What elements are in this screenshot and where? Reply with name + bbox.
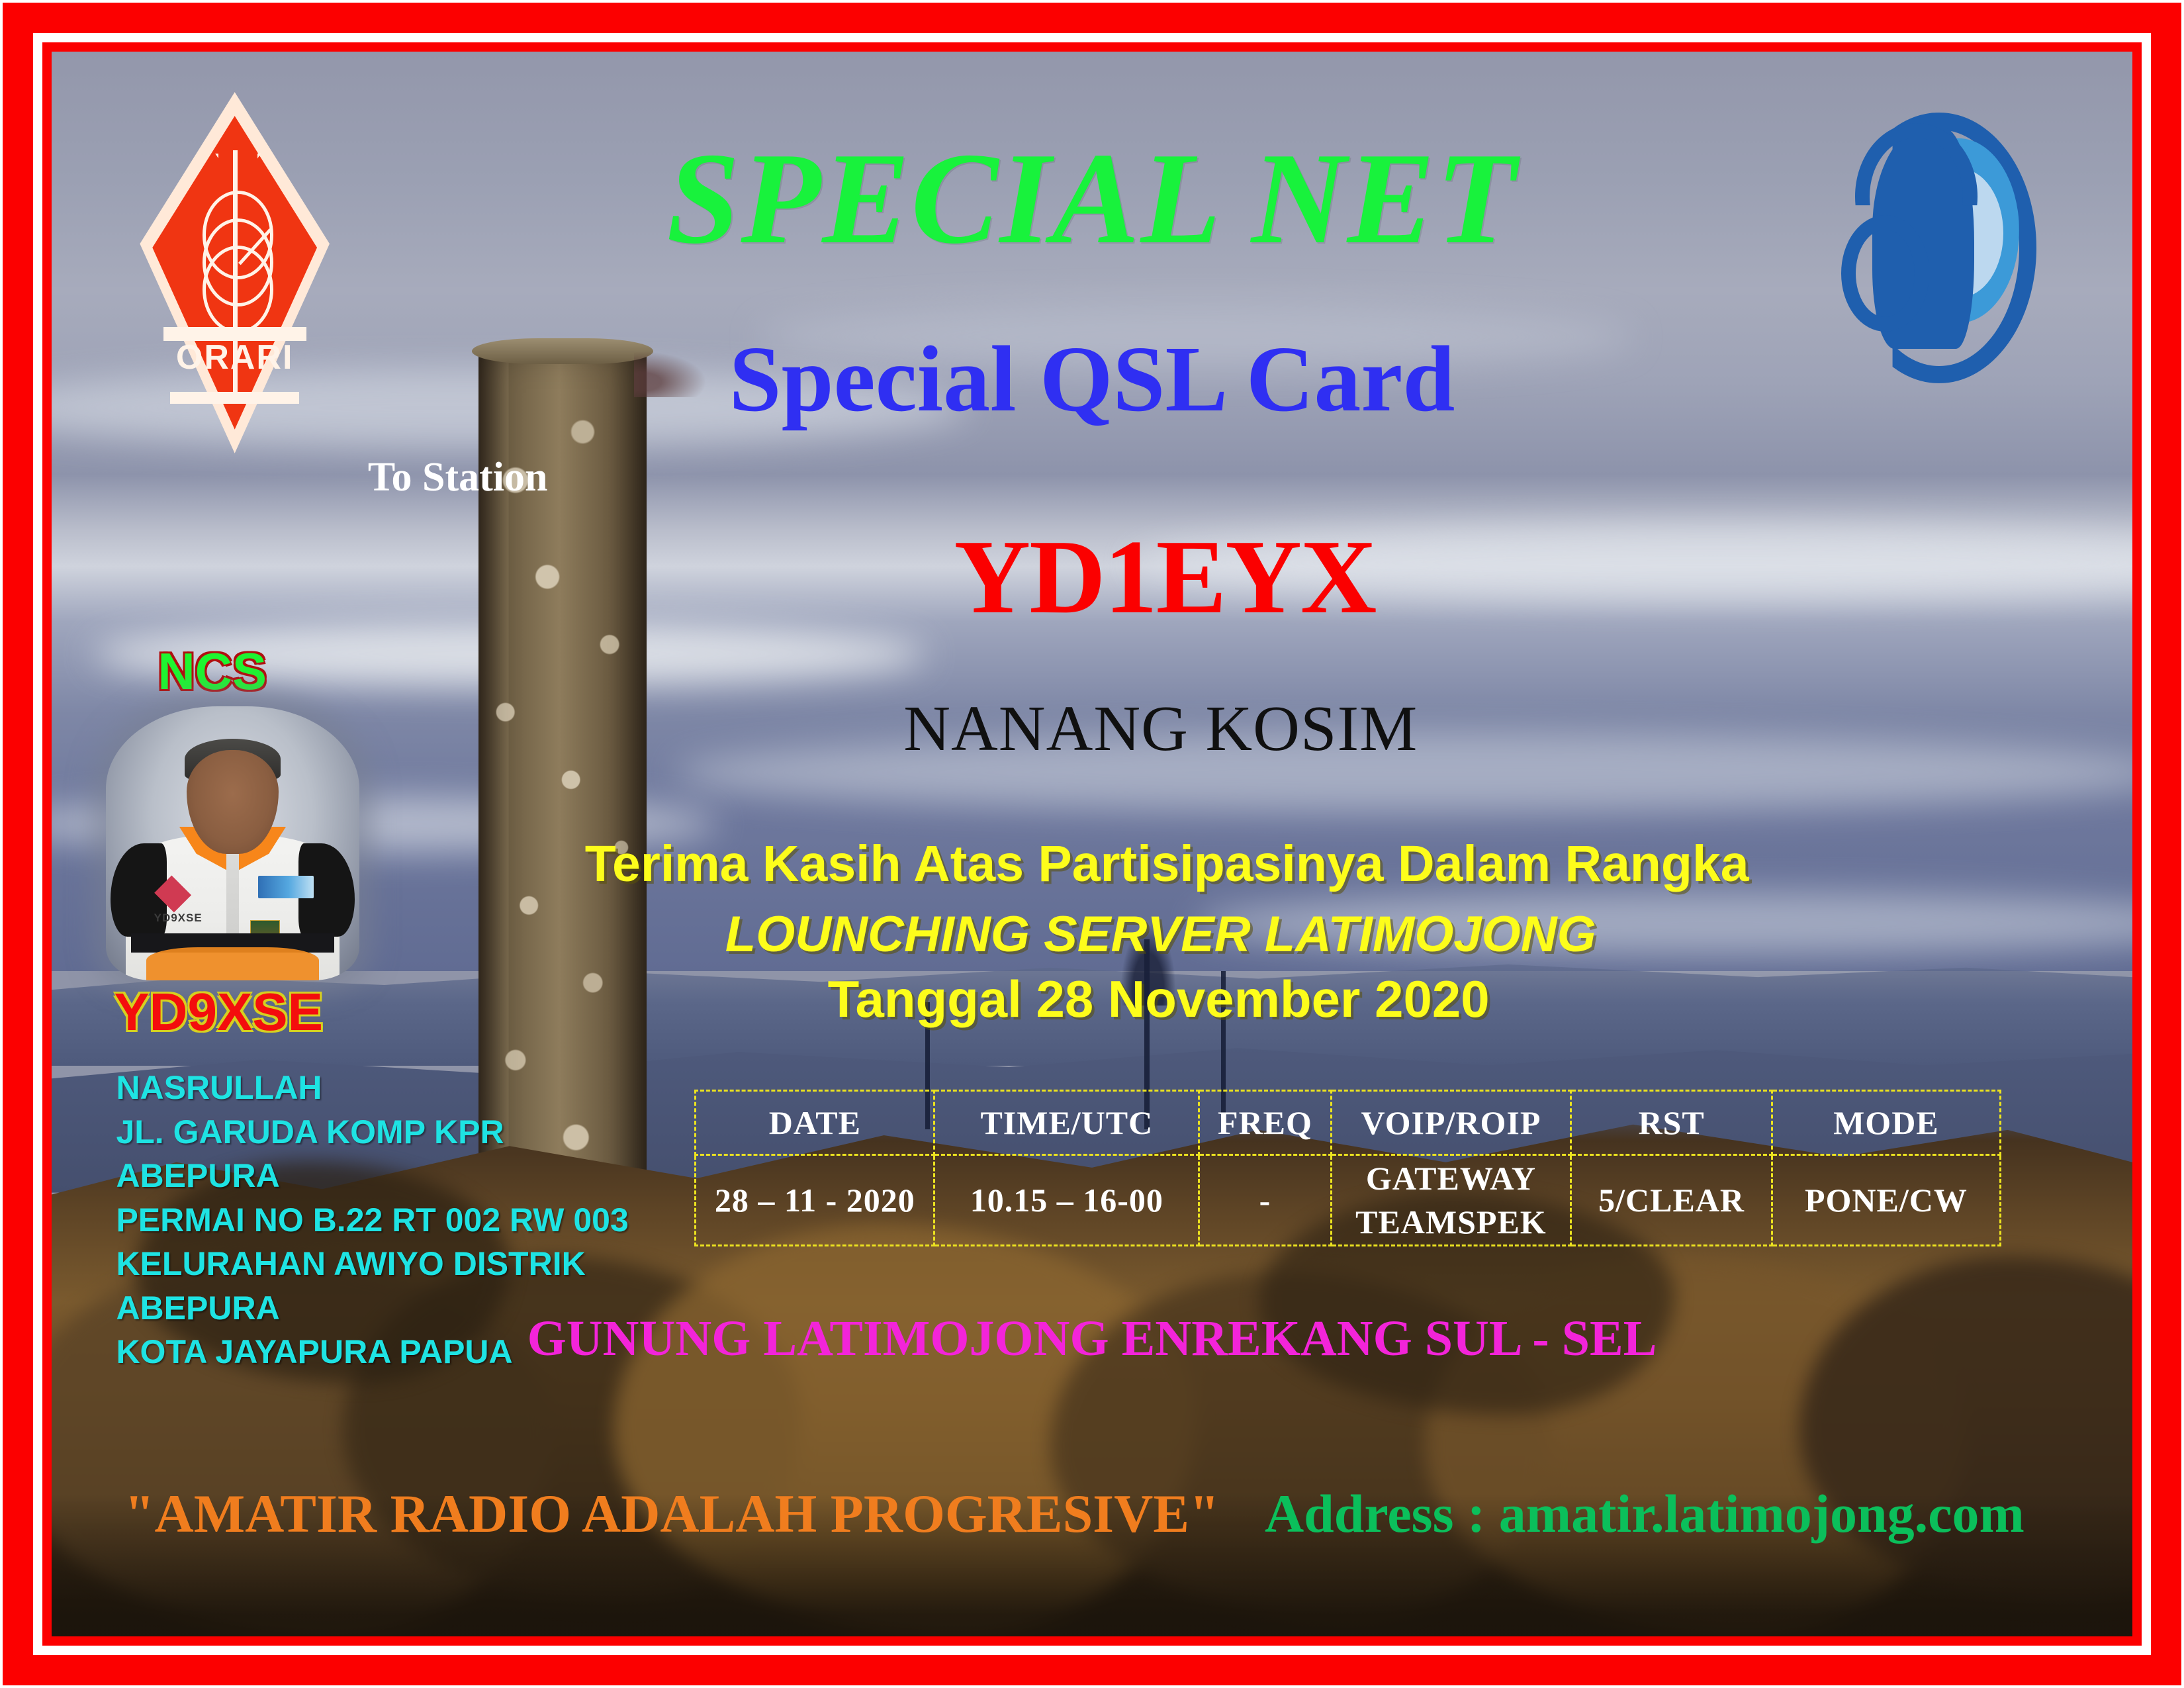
stone-pillar-cap [472,338,653,363]
address-line: NASRULLAH [116,1066,628,1110]
event-date: Tanggal 28 November 2020 [828,969,1490,1029]
orari-logo: ORARI [145,103,324,444]
to-station-label: To Station [368,454,548,501]
footer-address: Address : amatir.latimojong.com [1265,1483,2025,1545]
address-line: PERMAI NO B.22 RT 002 RW 003 [116,1198,628,1243]
address-line: JL. GARUDA KOMP KPR [116,1110,628,1154]
station-callsign: YD1EYX [954,516,1376,638]
cell-rst: 5/CLEAR [1571,1155,1772,1246]
cell-freq: - [1199,1155,1331,1246]
card-photo-area: ORARI SPECIAL NET Special QSL Card To St… [52,52,2132,1636]
pillar-wisp [634,346,717,397]
cell-mode: PONE/CW [1772,1155,2000,1246]
headphone-earcup-icon [1841,215,1929,332]
column-header-rst: RST [1571,1091,1772,1155]
orari-wordmark: ORARI [145,338,324,377]
ncs-label: NCS [158,641,267,702]
column-header-date: DATE [696,1091,934,1155]
photo-shirt-placket [226,843,239,942]
column-header-voip-roip: VOIP/ROIP [1331,1091,1571,1155]
ncs-callsign: YD9XSE [114,982,323,1043]
qso-log-table: DATE TIME/UTC FREQ VOIP/ROIP RST MODE 28… [694,1090,2001,1246]
photo-sash [146,947,319,980]
photo-face [187,750,278,854]
event-thanks-line: Terima Kasih Atas Partisipasinya Dalam R… [585,835,1749,894]
column-header-freq: FREQ [1199,1091,1331,1155]
cell-date: 28 – 11 - 2020 [696,1155,934,1246]
qsl-card: ORARI SPECIAL NET Special QSL Card To St… [0,0,2184,1688]
photo-shirt-callsign: YD9XSE [154,912,203,925]
operator-name: NANANG KOSIM [903,692,1418,766]
table-header-row: DATE TIME/UTC FREQ VOIP/ROIP RST MODE [696,1091,2000,1155]
cell-time-utc: 10.15 – 16-00 [934,1155,1199,1246]
page-title-special-net: SPECIAL NET [666,123,1517,273]
cell-voip-roip-line1: GATEWAY [1333,1156,1570,1200]
footer-slogan: "AMATIR RADIO ADALAH PROGRESIVE" [124,1483,1220,1545]
ncs-operator-photo: YD9XSE [106,706,360,980]
address-line: KELURAHAN AWIYO DISTRIK [116,1242,628,1286]
orari-bar [170,392,299,403]
cell-voip-roip-line2: TEAMSPEK [1333,1200,1570,1244]
column-header-time-utc: TIME/UTC [934,1091,1199,1155]
cell-voip-roip: GATEWAY TEAMSPEK [1331,1155,1571,1246]
table-row: 28 – 11 - 2020 10.15 – 16-00 - GATEWAY T… [696,1155,2000,1246]
page-subtitle-qsl-card: Special QSL Card [729,324,1455,433]
voip-logo [1841,103,2037,359]
address-line: ABEPURA [116,1154,628,1198]
photo-patch-right [258,876,314,898]
column-header-mode: MODE [1772,1091,2000,1155]
location-caption: GUNUNG LATIMOJONG ENREKANG SUL - SEL [527,1310,1657,1368]
event-title: LOUNCHING SERVER LATIMOJONG [725,906,1596,963]
